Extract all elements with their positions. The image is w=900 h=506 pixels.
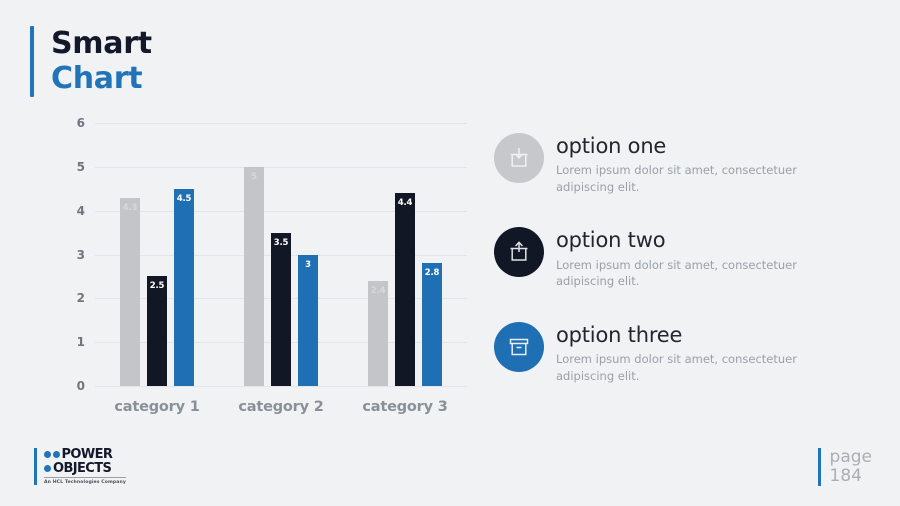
chart-bar: 3.5 [271, 233, 291, 386]
chart-bar: 4.5 [174, 189, 194, 386]
y-axis-tick: 2 [77, 291, 85, 305]
option-item-two[interactable]: option two Lorem ipsum dolor sit amet, c… [494, 226, 874, 289]
chart-bar-value-label: 4.5 [174, 194, 194, 204]
option-title: option one [556, 134, 836, 158]
option-description: Lorem ipsum dolor sit amet, consectetuer… [556, 162, 836, 195]
download-box-icon [494, 133, 544, 183]
chart-bar-value-label: 3.5 [271, 238, 291, 248]
category-label: category 2 [219, 399, 343, 415]
chart-bar: 2.4 [368, 281, 388, 386]
page-value: 184 [830, 467, 872, 486]
category-axis-labels: category 1category 2category 3 [95, 399, 467, 415]
option-title: option three [556, 323, 836, 347]
logo-dots-top [44, 451, 60, 458]
chart-bar-value-label: 5 [244, 172, 264, 182]
chart-bar-groups: 4.32.54.553.532.44.42.8 [95, 123, 467, 386]
chart-bar-value-label: 2.8 [422, 268, 442, 278]
chart-bar-value-label: 4.3 [120, 203, 140, 213]
chart-bar-value-label: 2.4 [368, 286, 388, 296]
chart-bar-group: 2.44.42.8 [343, 123, 467, 386]
chart-bar: 4.4 [395, 193, 415, 386]
page-number: page 184 [818, 448, 872, 486]
upload-box-icon [494, 227, 544, 277]
slide: Smart Chart 65432104.32.54.553.532.44.42… [0, 0, 900, 506]
category-label: category 3 [343, 399, 467, 415]
bar-chart: 65432104.32.54.553.532.44.42.8 category … [55, 115, 475, 415]
chart-bar: 4.3 [120, 198, 140, 386]
logo-word-objects: OBJECTS [53, 462, 111, 476]
page-label: page [830, 448, 872, 467]
chart-bar: 2.5 [147, 276, 167, 386]
logo-accent-bar [34, 448, 37, 485]
chart-gridline: 0 [95, 386, 467, 387]
y-axis-tick: 0 [77, 379, 85, 393]
y-axis-tick: 1 [77, 335, 85, 349]
chart-bar-group: 53.53 [219, 123, 343, 386]
page-accent-bar [818, 448, 821, 486]
option-item-one[interactable]: option one Lorem ipsum dolor sit amet, c… [494, 132, 874, 195]
logo-tagline: An HCL Technologies Company [44, 477, 126, 485]
archive-box-icon [494, 322, 544, 372]
powerobjects-logo: POWER OBJECTS An HCL Technologies Compan… [34, 448, 126, 485]
y-axis-tick: 4 [77, 204, 85, 218]
chart-bar-value-label: 2.5 [147, 281, 167, 291]
option-item-three[interactable]: option three Lorem ipsum dolor sit amet,… [494, 321, 874, 384]
title-line-smart: Smart [51, 26, 152, 61]
chart-bar: 2.8 [422, 263, 442, 386]
option-title: option two [556, 228, 836, 252]
chart-bar: 5 [244, 167, 264, 386]
chart-bar-value-label: 3 [298, 260, 318, 270]
title-accent-bar [30, 26, 34, 97]
option-description: Lorem ipsum dolor sit amet, consectetuer… [556, 257, 836, 290]
chart-bar: 3 [298, 255, 318, 387]
logo-dots-bottom [44, 465, 51, 472]
options-list: option one Lorem ipsum dolor sit amet, c… [494, 132, 874, 415]
category-label: category 1 [95, 399, 219, 415]
option-description: Lorem ipsum dolor sit amet, consectetuer… [556, 351, 836, 384]
chart-bar-group: 4.32.54.5 [95, 123, 219, 386]
y-axis-tick: 3 [77, 248, 85, 262]
page-title: Smart Chart [30, 26, 152, 97]
y-axis-tick: 5 [77, 160, 85, 174]
chart-plot-area: 65432104.32.54.553.532.44.42.8 [95, 123, 467, 386]
chart-bar-value-label: 4.4 [395, 198, 415, 208]
logo-word-power: POWER [62, 448, 113, 462]
title-line-chart: Chart [51, 61, 152, 96]
y-axis-tick: 6 [77, 116, 85, 130]
